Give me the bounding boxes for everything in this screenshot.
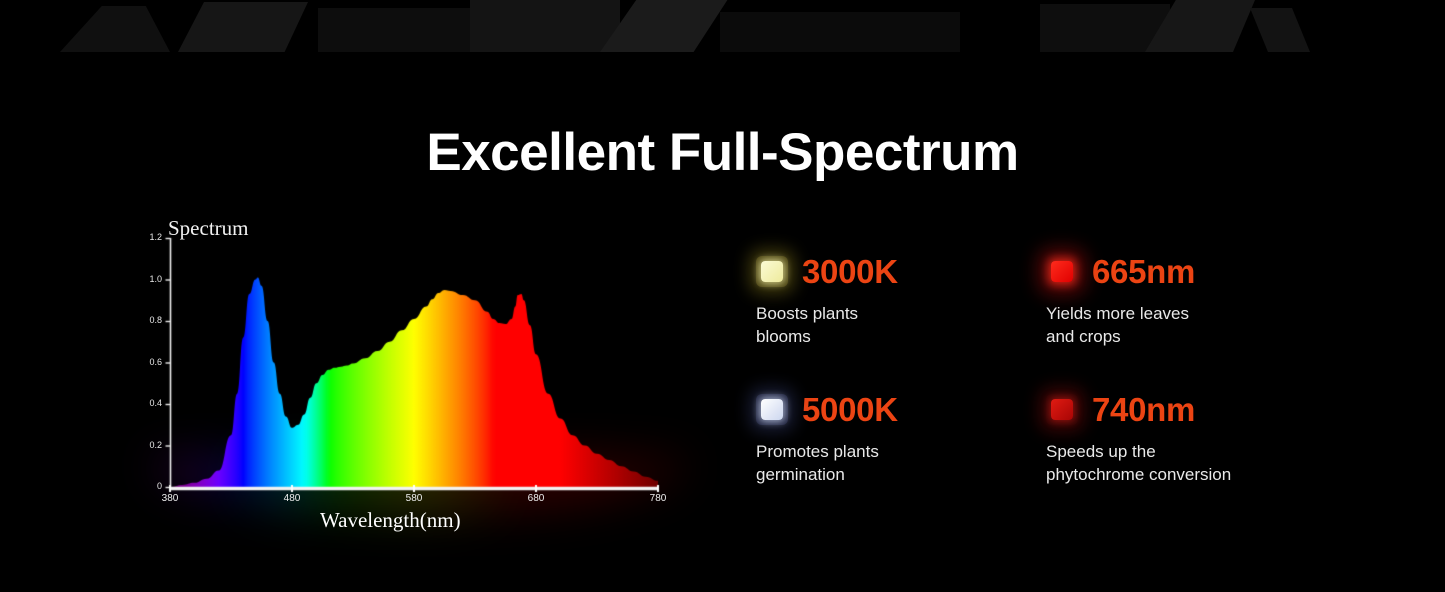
banner-shape: [470, 0, 620, 52]
y-axis-tick-label: 0.4: [136, 398, 162, 408]
feature-grid: 3000K Boosts plants blooms 665nm Yields …: [756, 248, 1416, 487]
feature-card-740nm[interactable]: 740nm Speeds up the phytochrome conversi…: [1046, 386, 1366, 487]
y-axis-tick-label: 0: [136, 481, 162, 491]
y-axis-tick-label: 1.2: [136, 232, 162, 242]
banner-shape: [60, 6, 170, 52]
y-axis-tick-label: 0.6: [136, 357, 162, 367]
feature-description: Boosts plants blooms: [756, 302, 1046, 349]
x-axis-tick-label: 680: [516, 493, 556, 504]
feature-value: 3000K: [802, 255, 898, 288]
banner-shape: [178, 2, 308, 52]
x-axis-tick-label: 480: [272, 493, 312, 504]
led-chip-cool-white-icon: [756, 394, 788, 425]
feature-card-3000k[interactable]: 3000K Boosts plants blooms: [756, 248, 1046, 386]
feature-value: 5000K: [802, 393, 898, 426]
x-axis-tick-label: 580: [394, 493, 434, 504]
led-chip-deep-red-icon: [1046, 394, 1078, 425]
spectrum-plot-canvas: [130, 206, 710, 506]
led-chip-red-icon: [1046, 256, 1078, 287]
banner-shape: [720, 12, 960, 52]
y-axis-tick-label: 0.2: [136, 440, 162, 450]
led-chip-warm-white-icon: [756, 256, 788, 287]
feature-value: 665nm: [1092, 255, 1195, 288]
top-banner-strip: [0, 0, 1445, 58]
banner-shape: [318, 8, 478, 52]
page-title: Excellent Full-Spectrum: [0, 122, 1445, 183]
feature-card-5000k[interactable]: 5000K Promotes plants germination: [756, 386, 1046, 487]
feature-value: 740nm: [1092, 393, 1195, 426]
feature-description: Yields more leaves and crops: [1046, 302, 1366, 349]
feature-description: Speeds up the phytochrome conversion: [1046, 440, 1366, 487]
y-axis-tick-label: 0.8: [136, 315, 162, 325]
spectrum-chart: Spectrum 00.20.40.60.81.01.2 38048058068…: [130, 206, 710, 566]
x-axis-tick-label: 380: [150, 493, 190, 504]
feature-description: Promotes plants germination: [756, 440, 1046, 487]
x-axis-title: Wavelength(nm): [320, 508, 461, 533]
x-axis-tick-label: 780: [638, 493, 678, 504]
banner-shape: [1250, 8, 1310, 52]
feature-card-665nm[interactable]: 665nm Yields more leaves and crops: [1046, 248, 1366, 386]
y-axis-tick-label: 1.0: [136, 274, 162, 284]
